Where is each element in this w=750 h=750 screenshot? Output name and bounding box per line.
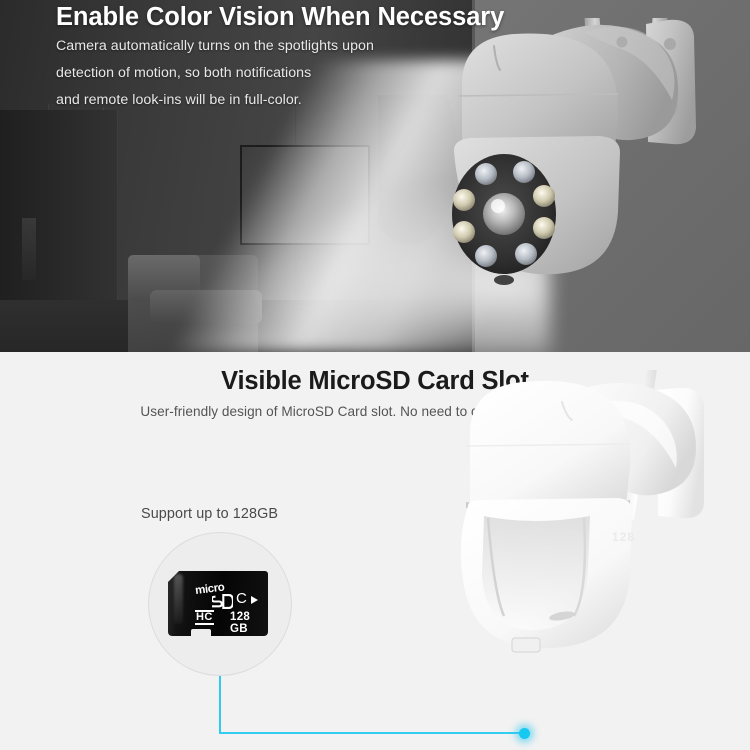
camera-body-mark: 128 <box>612 530 635 544</box>
camera-rear-view <box>452 370 750 742</box>
led-2 <box>513 161 535 183</box>
camera-upper-housing <box>470 381 630 506</box>
page-title-color-vision: Enable Color Vision When Necessary <box>56 3 696 32</box>
sd-logo-icon <box>212 593 233 610</box>
sd-card-gloss <box>174 574 183 624</box>
mount-screw-upper <box>664 38 676 50</box>
led-4 <box>533 185 555 207</box>
sd-speed-arrow-icon <box>251 596 258 604</box>
camera-white-svg <box>452 370 750 742</box>
microsd-card-slot[interactable] <box>512 638 540 652</box>
led-7 <box>475 245 497 267</box>
led-8 <box>515 243 537 265</box>
color-vision-body-line-3: and remote look-ins will be in full-colo… <box>56 92 616 108</box>
camera-lens <box>483 193 525 235</box>
room-sofa-seat <box>150 290 262 324</box>
led-1 <box>475 163 497 185</box>
room-wall-picture <box>240 145 370 245</box>
led-5 <box>453 221 475 243</box>
sd-class-mark: C <box>236 591 247 606</box>
sd-hc-text: HC <box>195 610 214 625</box>
led-6 <box>533 217 555 239</box>
room-cabinet-handle <box>22 218 36 280</box>
product-feature-page: Sricam® Enable Color Vision When Nec <box>0 0 750 750</box>
sd-capacity-text: 128 GB <box>230 611 268 635</box>
support-capacity-label: Support up to 128GB <box>141 506 278 522</box>
microsd-card-graphic: micro HC C 128 GB <box>168 571 268 636</box>
arm-screw <box>617 37 628 48</box>
lens-glint <box>491 199 505 213</box>
led-3 <box>453 189 475 211</box>
slot-indicator-dot <box>519 728 530 739</box>
sd-card-bottom-notch <box>191 629 211 637</box>
color-vision-body-line-2: detection of motion, so both notificatio… <box>56 65 616 81</box>
microphone-port <box>494 275 514 285</box>
panel-color-vision: Sricam® Enable Color Vision When Nec <box>0 0 750 352</box>
color-vision-body-line-1: Camera automatically turns on the spotli… <box>56 38 616 54</box>
